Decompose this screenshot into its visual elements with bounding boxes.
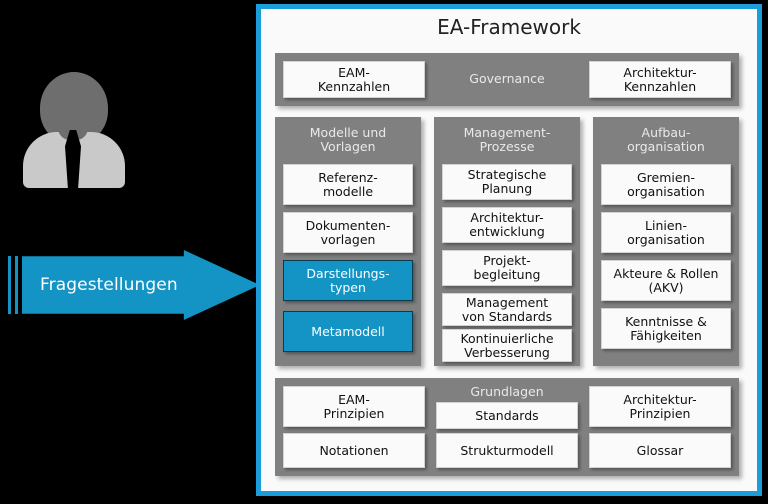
item-kontinuierliche-verbesserung[interactable]: Kontinuierliche Verbesserung bbox=[442, 329, 572, 362]
persona-illustration bbox=[18, 70, 128, 188]
item-glossar[interactable]: Glossar bbox=[589, 433, 731, 468]
arrow-tail-stripe-1 bbox=[8, 256, 11, 314]
item-referenzmodelle[interactable]: Referenz- modelle bbox=[283, 164, 413, 205]
arrow-label: Fragestellungen bbox=[22, 275, 178, 295]
governance-panel: Governance EAM- Kennzahlen Architektur- … bbox=[275, 53, 739, 106]
item-gremienorganisation[interactable]: Gremien- organisation bbox=[601, 164, 731, 205]
item-architektur-prinzipien[interactable]: Architektur- Prinzipien bbox=[589, 386, 731, 427]
item-eam-prinzipien[interactable]: EAM- Prinzipien bbox=[283, 386, 425, 427]
column-title-aufbauorganisation: Aufbau- organisation bbox=[593, 126, 739, 154]
item-projektbegleitung[interactable]: Projekt- begleitung bbox=[442, 250, 572, 286]
right-arrow-shape: Fragestellungen bbox=[22, 250, 260, 320]
item-linienorganisation[interactable]: Linien- organisation bbox=[601, 212, 731, 253]
item-notationen[interactable]: Notationen bbox=[283, 433, 425, 468]
item-darstellungstypen[interactable]: Darstellungs- typen bbox=[283, 260, 413, 301]
column-management-prozesse: Management- Prozesse Strategische Planun… bbox=[434, 117, 580, 366]
item-strategische-planung[interactable]: Strategische Planung bbox=[442, 164, 572, 200]
governance-box-architektur-kennzahlen[interactable]: Architektur- Kennzahlen bbox=[589, 61, 731, 98]
item-kenntnisse-und-faehigkeiten[interactable]: Kenntnisse & Fähigkeiten bbox=[601, 308, 731, 349]
column-modelle-und-vorlagen: Modelle und Vorlagen Referenz- modelle D… bbox=[275, 117, 421, 366]
framework-title: EA-Framework bbox=[261, 15, 757, 39]
column-title-management-prozesse: Management- Prozesse bbox=[434, 126, 580, 154]
ea-framework-frame: EA-Framework Governance EAM- Kennzahlen … bbox=[256, 4, 762, 496]
column-title-modelle-und-vorlagen: Modelle und Vorlagen bbox=[275, 126, 421, 154]
item-strukturmodell[interactable]: Strukturmodell bbox=[436, 433, 578, 468]
column-aufbauorganisation: Aufbau- organisation Gremien- organisati… bbox=[593, 117, 739, 366]
grundlagen-panel: Grundlagen EAM- Prinzipien Notationen St… bbox=[275, 378, 739, 476]
item-standards[interactable]: Standards bbox=[436, 402, 578, 429]
item-architekturentwicklung[interactable]: Architektur- entwicklung bbox=[442, 207, 572, 243]
item-metamodell[interactable]: Metamodell bbox=[283, 311, 413, 352]
item-management-von-standards[interactable]: Management von Standards bbox=[442, 293, 572, 326]
arrow-tail-stripe-2 bbox=[15, 256, 18, 314]
person-tie-icon bbox=[65, 130, 81, 188]
governance-box-eam-kennzahlen[interactable]: EAM- Kennzahlen bbox=[283, 61, 425, 98]
questions-arrow: Fragestellungen bbox=[8, 250, 260, 320]
item-dokumentenvorlagen[interactable]: Dokumenten- vorlagen bbox=[283, 212, 413, 253]
item-akteure-und-rollen[interactable]: Akteure & Rollen (AKV) bbox=[601, 260, 731, 301]
